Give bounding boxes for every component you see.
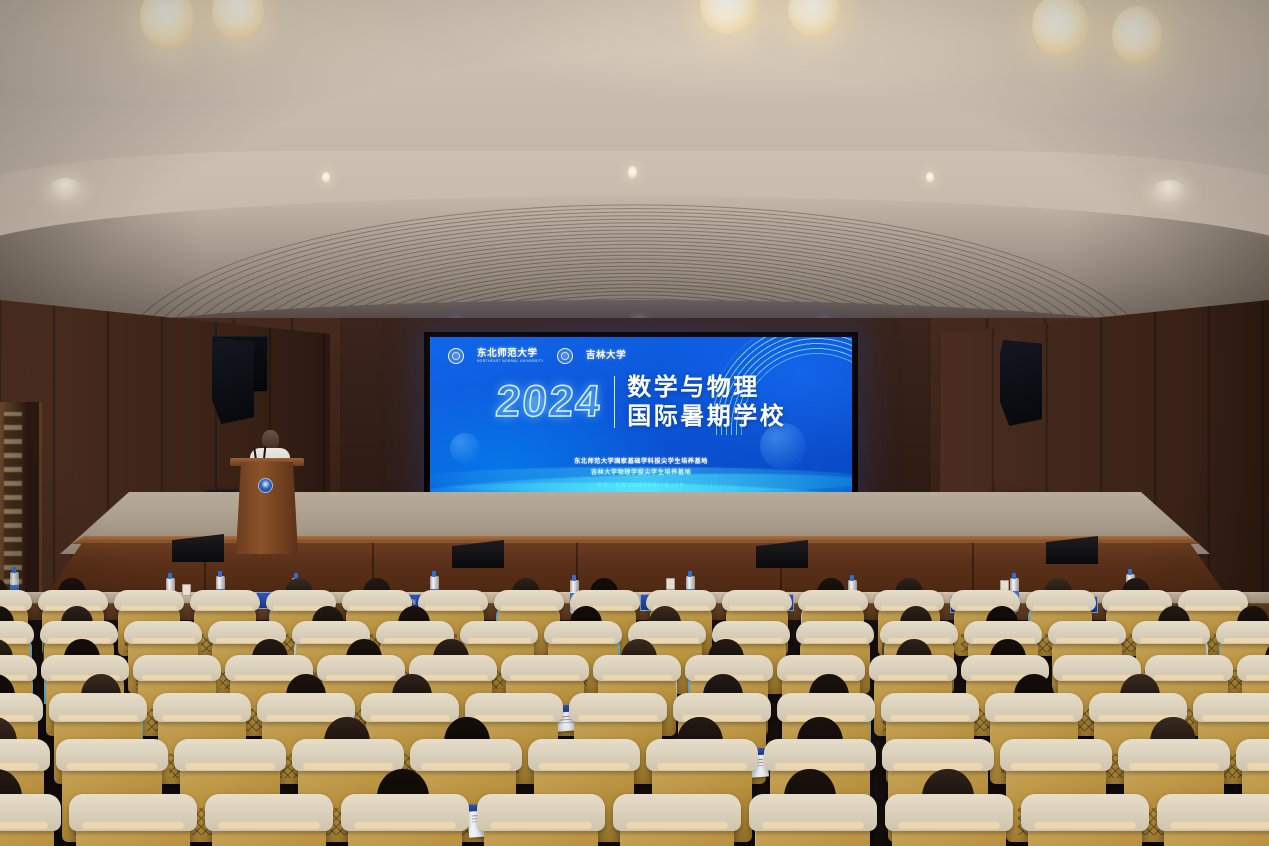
- line-array-speaker: [212, 338, 254, 424]
- wall-outlet: [182, 584, 191, 596]
- organizer-logos: 东北师范大学 NORTHEAST NORMAL UNIVERSITY 吉林大学: [448, 348, 626, 364]
- logo-name-en: NORTHEAST NORMAL UNIVERSITY: [477, 360, 544, 363]
- auditorium-seat[interactable]: [484, 818, 598, 846]
- wall-outlet: [666, 578, 675, 590]
- line-array-speaker: [1000, 340, 1042, 426]
- ceiling-spot: [322, 172, 330, 183]
- event-title-line2: 国际暑期学校: [627, 404, 786, 430]
- globe-emblem-icon: [557, 348, 573, 364]
- logo-name-cn: 吉林大学: [586, 351, 626, 361]
- auditorium-seat[interactable]: [212, 818, 326, 846]
- podium: [236, 462, 298, 554]
- auditorium-seat[interactable]: [756, 818, 870, 846]
- event-title-line1: 数学与物理: [627, 375, 786, 401]
- logo-name-cn: 东北师范大学: [477, 349, 544, 359]
- headline-divider: [614, 376, 616, 428]
- university-seal-icon: [258, 478, 273, 493]
- banner-headline: 2024 数学与物理 国际暑期学校: [430, 375, 852, 430]
- auditorium-seat[interactable]: [620, 818, 734, 846]
- ceiling-spot: [628, 166, 637, 179]
- seal-emblem-icon: [448, 348, 464, 364]
- logo-text-nenu: 东北师范大学 NORTHEAST NORMAL UNIVERSITY: [477, 349, 544, 364]
- auditorium-seat[interactable]: [1028, 818, 1142, 846]
- auditorium-seat[interactable]: [76, 818, 190, 846]
- auditorium-seat[interactable]: [348, 818, 462, 846]
- ceiling-downlight: [1112, 6, 1162, 64]
- auditorium-photo: 东北师范大学 NORTHEAST NORMAL UNIVERSITY 吉林大学 …: [0, 0, 1269, 846]
- led-screen-content: 东北师范大学 NORTHEAST NORMAL UNIVERSITY 吉林大学 …: [430, 337, 852, 519]
- auditorium-seat[interactable]: [892, 818, 1006, 846]
- event-title: 数学与物理 国际暑期学校: [627, 375, 786, 430]
- event-year: 2024: [494, 380, 604, 424]
- auditorium-seat[interactable]: [1164, 818, 1269, 846]
- logo-text-jlu: 吉林大学: [586, 351, 626, 361]
- auditorium-seat[interactable]: [0, 818, 54, 846]
- ceiling-spot: [926, 172, 934, 183]
